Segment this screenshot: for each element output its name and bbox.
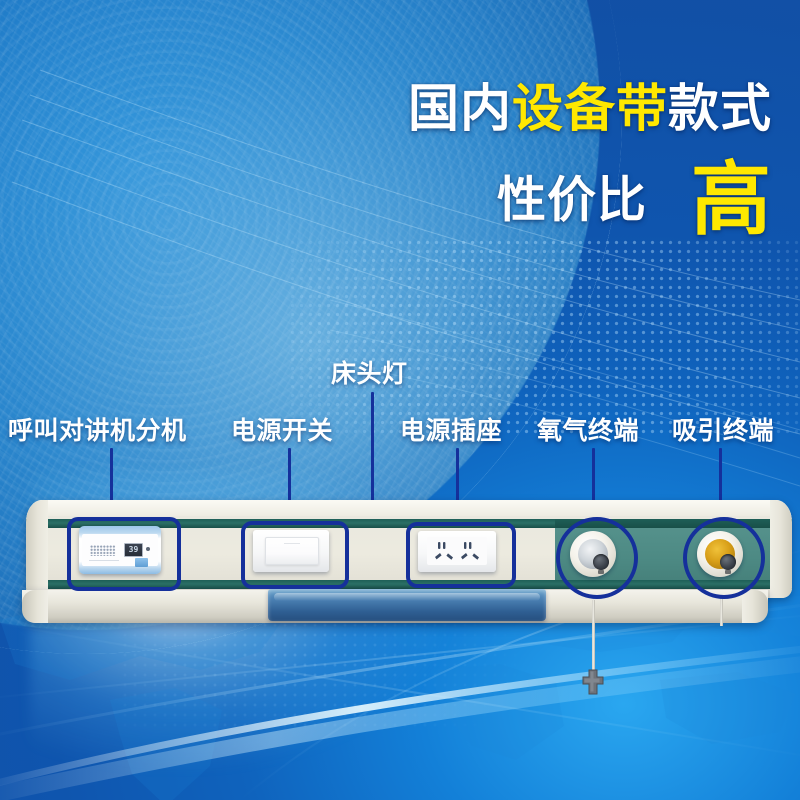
callout-label-intercom: 呼叫对讲机分机 <box>8 418 187 443</box>
product-poster: 国内设备带款式 性价比高 呼叫对讲机分机 电源开关 床头灯 电源插座 氧气终端 … <box>0 0 800 800</box>
headline-line1-part2: 设备带 <box>512 80 668 139</box>
pull-cord-secondary[interactable] <box>720 598 723 626</box>
highlight-box-power-switch <box>241 521 349 589</box>
panel-end-cap-right <box>770 500 792 598</box>
headline-line2-part2: 高 <box>691 153 772 246</box>
headline-line2-part1: 性价比 <box>497 172 647 229</box>
pull-cord[interactable] <box>592 600 595 670</box>
headline-line1-part3: 款式 <box>668 80 772 139</box>
callout-label-power-socket: 电源插座 <box>400 418 502 443</box>
rail-end-cap-right <box>742 590 768 623</box>
panel-top-highlight <box>26 500 792 516</box>
bedside-lamp[interactable] <box>268 589 546 621</box>
highlight-circle-oxygen-terminal <box>556 517 638 599</box>
headline-line1-part1: 国内 <box>408 80 512 139</box>
highlight-box-power-socket <box>406 522 516 588</box>
callout-label-oxygen-terminal: 氧气终端 <box>537 418 639 443</box>
panel-end-cap-left <box>26 500 48 598</box>
halftone-dots-decor <box>288 238 800 438</box>
pull-cord-handle-icon[interactable] <box>578 668 608 698</box>
headline-line-2: 性价比高 <box>0 160 772 240</box>
headline-block: 国内设备带款式 性价比高 <box>0 0 800 250</box>
rail-end-cap-left <box>22 590 48 623</box>
callout-label-bedside-lamp: 床头灯 <box>331 361 408 386</box>
highlight-circle-suction-terminal <box>683 517 765 599</box>
headline-line-1: 国内设备带款式 <box>0 84 772 135</box>
highlight-box-intercom <box>67 517 181 591</box>
callout-label-suction-terminal: 吸引终端 <box>672 418 774 443</box>
callout-label-power-switch: 电源开关 <box>231 418 333 443</box>
